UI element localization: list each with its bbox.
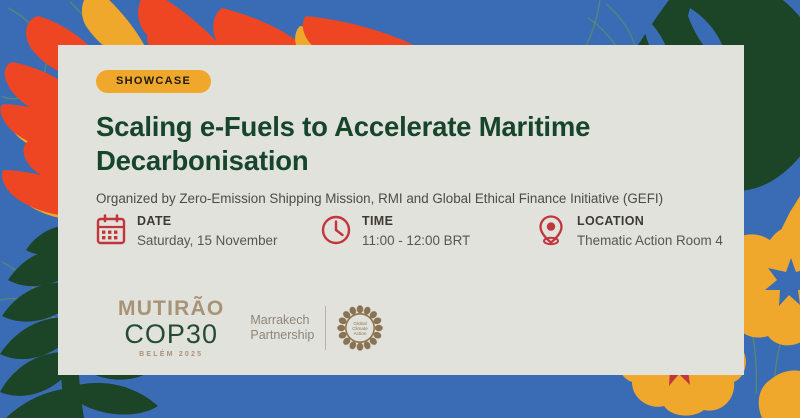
content-card: SHOWCASE Scaling e-Fuels to Accelerate M…: [58, 45, 744, 375]
card-header-block: SHOWCASE Scaling e-Fuels to Accelerate M…: [96, 70, 724, 208]
detail-location-value: Thematic Action Room 4: [577, 232, 723, 250]
showcase-badge: SHOWCASE: [96, 70, 211, 93]
marrakech-line-2: Partnership: [250, 328, 314, 344]
detail-time-label: TIME: [362, 214, 470, 230]
detail-location-text: LOCATION Thematic Action Room 4: [577, 213, 723, 250]
marrakech-line-1: Marrakech: [250, 313, 314, 329]
page-title: Scaling e-Fuels to Accelerate Maritime D…: [96, 110, 696, 177]
organizer-text: Organized by Zero-Emission Shipping Miss…: [96, 190, 724, 207]
detail-date-label: DATE: [137, 214, 277, 230]
event-details-row: DATE Saturday, 15 November TIME 11:00 - …: [96, 213, 766, 250]
detail-time-value: 11:00 - 12:00 BRT: [362, 232, 470, 250]
calendar-icon: [96, 213, 126, 247]
cop30-logo-cop30: COP30: [118, 320, 224, 348]
detail-location-label: LOCATION: [577, 214, 723, 230]
marrakech-partnership-logo: Marrakech Partnership: [250, 301, 383, 355]
cop30-logo: MUTIRÃO COP30 BELÉM 2025: [118, 298, 224, 358]
marrakech-partnership-text: Marrakech Partnership: [250, 313, 325, 344]
logo-divider: [325, 306, 326, 350]
detail-time: TIME 11:00 - 12:00 BRT: [321, 213, 536, 250]
detail-time-text: TIME 11:00 - 12:00 BRT: [362, 213, 470, 250]
footer-logo-group: MUTIRÃO COP30 BELÉM 2025 Marrakech Partn…: [118, 298, 383, 358]
cop30-logo-mutirao: MUTIRÃO: [118, 298, 224, 319]
global-climate-action-emblem: Global Climate Action: [337, 305, 383, 351]
clock-icon: [321, 213, 351, 247]
cop30-logo-belem: BELÉM 2025: [118, 351, 224, 358]
event-poster: SHOWCASE Scaling e-Fuels to Accelerate M…: [0, 0, 800, 418]
emblem-line-3: Action: [354, 331, 367, 336]
detail-date-value: Saturday, 15 November: [137, 232, 277, 250]
detail-date: DATE Saturday, 15 November: [96, 213, 321, 250]
detail-location: LOCATION Thematic Action Room 4: [536, 213, 766, 250]
detail-date-text: DATE Saturday, 15 November: [137, 213, 277, 250]
location-pin-icon: [536, 213, 566, 247]
